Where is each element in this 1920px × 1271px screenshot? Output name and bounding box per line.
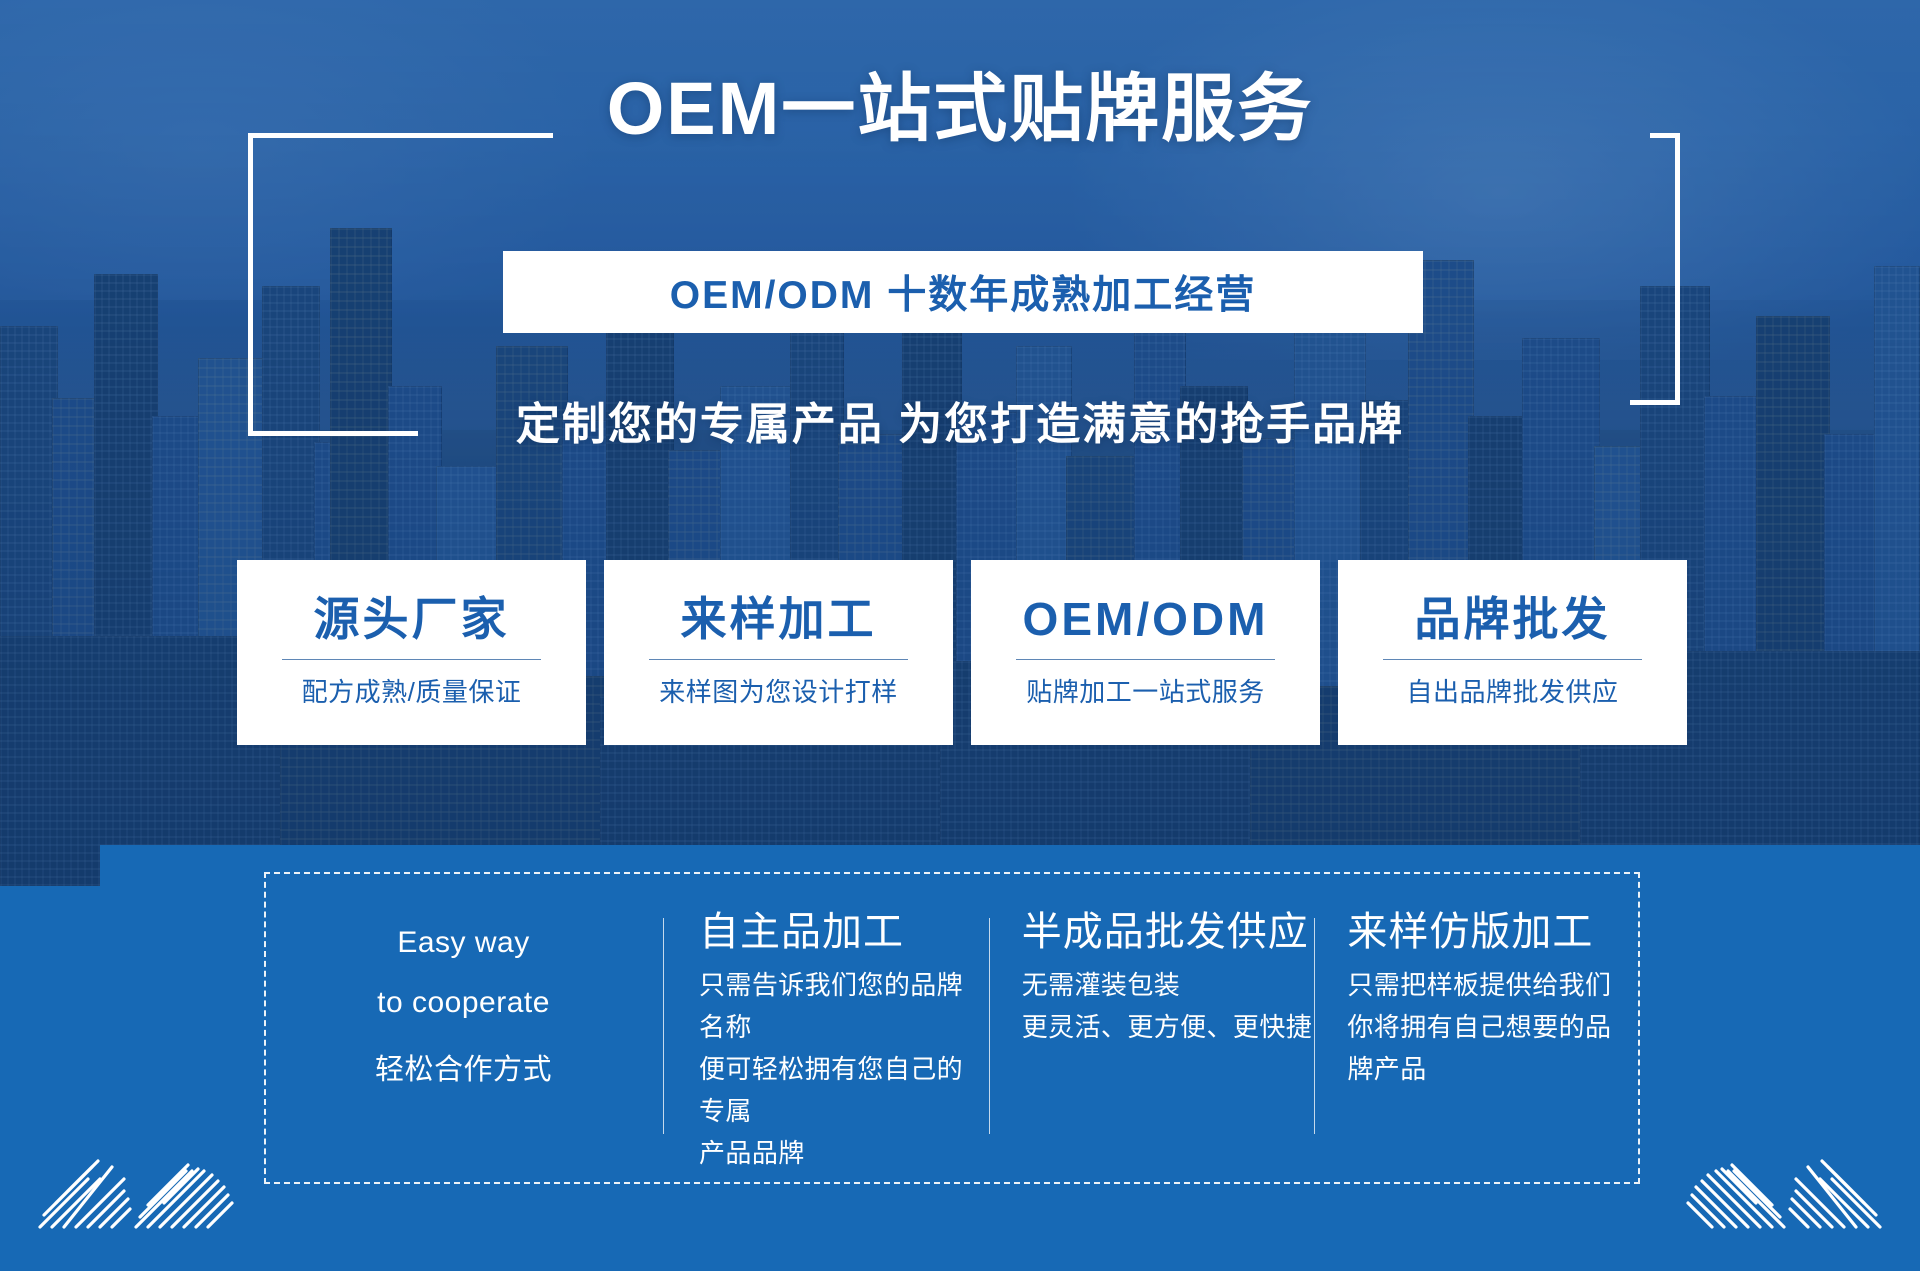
feature-card-subtitle: 贴牌加工一站式服务 (1026, 672, 1265, 709)
feature-card-row: 源头厂家 配方成熟/质量保证 来样加工 来样图为您设计打样 OEM/ODM 贴牌… (237, 560, 1687, 745)
cooperation-columns: Easy way to cooperate 轻松合作方式 自主品加工 只需告诉我… (264, 872, 1640, 1184)
feature-card-title: 源头厂家 (314, 594, 510, 646)
cooperation-column-line: 便可轻松拥有您自己的专属 (699, 1048, 989, 1132)
cooperation-column-heading: 来样仿版加工 (1347, 912, 1640, 952)
cooperation-column-line: 更灵活、更方便、更快捷 (1022, 1006, 1315, 1048)
subtitle-bar: OEM/ODM 十数年成熟加工经营 (503, 251, 1423, 333)
cooperation-column-heading: 自主品加工 (699, 912, 989, 952)
subtitle-bar-text: OEM/ODM 十数年成熟加工经营 (670, 264, 1257, 320)
cooperation-column-line: 牌产品 (1347, 1048, 1640, 1090)
page-title: OEM一站式贴牌服务 (0, 72, 1920, 146)
cooperation-column-line: 无需灌装包装 (1022, 964, 1315, 1006)
cooperation-column: 半成品批发供应 无需灌装包装 更灵活、更方便、更快捷 (989, 912, 1315, 1148)
easy-way-column: Easy way to cooperate 轻松合作方式 (264, 912, 663, 1148)
tagline: 定制您的专属产品 为您打造满意的抢手品牌 (0, 388, 1920, 452)
cooperation-column: 来样仿版加工 只需把样板提供给我们 你将拥有自己想要的品 牌产品 (1314, 912, 1640, 1148)
feature-card-title: OEM/ODM (1023, 594, 1269, 646)
cooperation-column-line: 产品品牌 (699, 1132, 989, 1174)
cooperation-column-line: 你将拥有自己想要的品 (1347, 1006, 1640, 1048)
frame-right-edge (1675, 133, 1680, 405)
feature-card-title: 来样加工 (681, 594, 877, 646)
feature-card[interactable]: 来样加工 来样图为您设计打样 (604, 560, 953, 745)
cooperation-column-line: 只需把样板提供给我们 (1347, 964, 1640, 1006)
cooperation-column-heading: 半成品批发供应 (1022, 912, 1315, 952)
feature-card-title: 品牌批发 (1415, 594, 1611, 646)
feature-card[interactable]: OEM/ODM 贴牌加工一站式服务 (971, 560, 1320, 745)
feature-card-divider (1016, 659, 1275, 660)
cooperation-column-line: 只需告诉我们您的品牌名称 (699, 964, 989, 1048)
feature-card-subtitle: 配方成熟/质量保证 (302, 672, 522, 709)
feature-card-divider (1383, 659, 1642, 660)
easy-way-line-1: Easy way (397, 926, 529, 960)
oem-service-banner: OEM一站式贴牌服务 OEM/ODM 十数年成熟加工经营 定制您的专属产品 为您… (0, 0, 1920, 1271)
feature-card-subtitle: 来样图为您设计打样 (659, 672, 898, 709)
feature-card[interactable]: 源头厂家 配方成熟/质量保证 (237, 560, 586, 745)
feature-card[interactable]: 品牌批发 自出品牌批发供应 (1338, 560, 1687, 745)
feature-card-divider (649, 659, 908, 660)
feature-card-divider (282, 659, 541, 660)
feature-card-subtitle: 自出品牌批发供应 (1406, 672, 1618, 709)
easy-way-line-3: 轻松合作方式 (375, 1046, 552, 1088)
cooperation-column: 自主品加工 只需告诉我们您的品牌名称 便可轻松拥有您自己的专属 产品品牌 (663, 912, 989, 1148)
easy-way-line-2: to cooperate (377, 986, 550, 1020)
